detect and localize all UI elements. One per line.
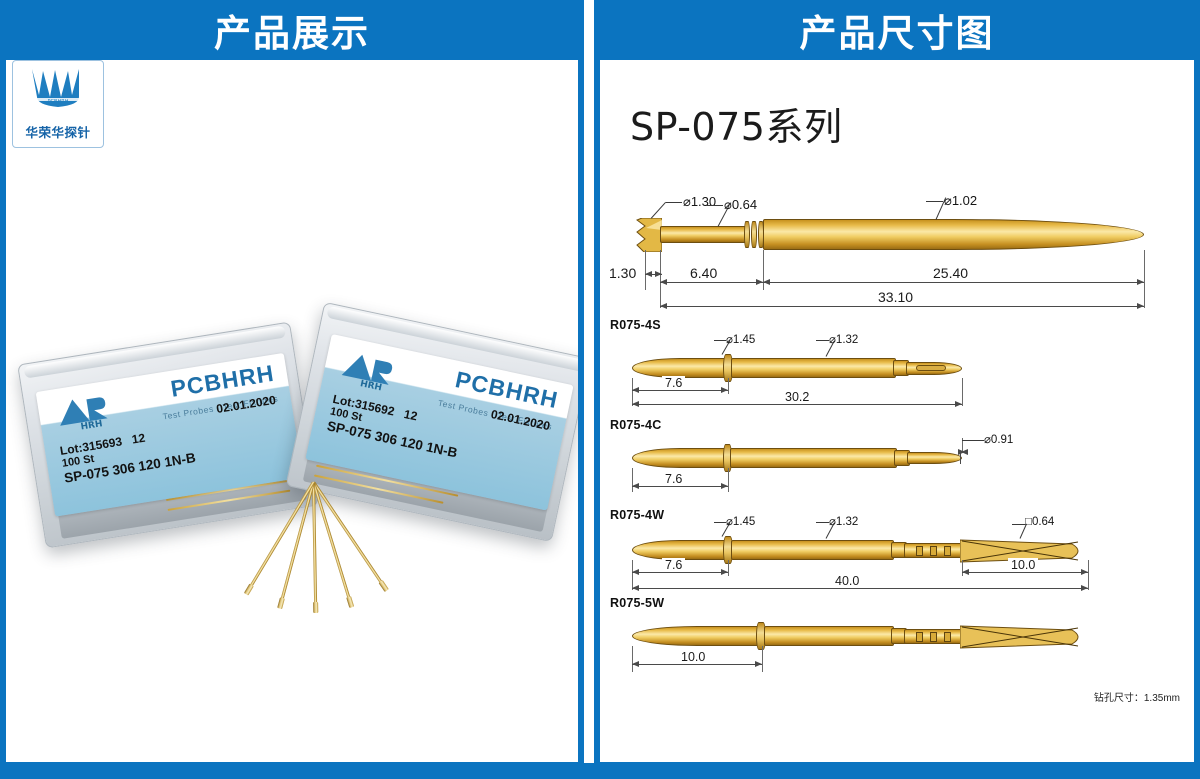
dimension-line-barrel: [763, 282, 1144, 283]
bottom-accent-bar: [0, 763, 1200, 779]
loose-probe: [249, 481, 314, 587]
callout-body-diameter-4w: ⌀1.32: [829, 514, 858, 528]
receptacle-body: [730, 448, 897, 468]
callout-barrel-diameter: ⌀1.02: [944, 193, 977, 209]
dimension-flange-4s: 7.6: [662, 376, 685, 390]
callout-body-diameter-4s: ⌀1.32: [829, 332, 858, 346]
callout-tip-diameter: ⌀1.30: [683, 194, 716, 210]
dimension-line-overall-4s: [632, 404, 962, 405]
receptacle-body: [731, 540, 894, 560]
callout-leader: [816, 340, 829, 341]
callout-tail-diameter-4c: ⌀0.91: [984, 432, 1013, 446]
extension-line: [645, 250, 646, 290]
barrel-segment: [763, 219, 1144, 250]
extension-line: [1144, 250, 1145, 308]
dimension-wrap-4w: 10.0: [1008, 558, 1038, 572]
drill-size-footnote: 钻孔尺寸：1.35mm: [1094, 689, 1180, 704]
receptacle-body: [632, 358, 728, 378]
product-photo: HRH PCBHRH Test Probes · Test Fixtures 0…: [6, 60, 578, 762]
extension-line: [728, 468, 729, 492]
callout-plunger-diameter: ⌀0.64: [724, 197, 757, 213]
crimp-ring: [744, 221, 750, 248]
callout-leader: [714, 340, 726, 341]
datasheet-page: 产品展示 PCBHRH 华荣华探针: [0, 0, 1200, 779]
receptacle-body: [764, 626, 894, 646]
callout-leader: [816, 522, 829, 523]
box-qty-code-right: 12: [403, 407, 419, 423]
dimension-drawing-panel: 产品尺寸图 SP-075系列: [594, 0, 1200, 770]
extension-line: [728, 378, 729, 394]
right-panel-body: SP-075系列 ⌀1.30: [600, 60, 1194, 762]
callout-flange-diameter-4s: ⌀1.45: [726, 332, 755, 346]
receptacle-body: [632, 540, 728, 560]
dimension-line-flange-4w: [632, 572, 728, 573]
callout-leader: [666, 202, 682, 203]
receptacle-body: [731, 358, 896, 378]
wrap-window: [930, 546, 937, 556]
callout-leader: [1012, 524, 1025, 525]
variant-name-4w: R075-4W: [610, 508, 664, 522]
hrh-logo-icon: HRH: [337, 345, 398, 393]
variant-name-4s: R075-4S: [610, 318, 661, 332]
dimension-line-body-4w: [632, 588, 1088, 589]
variant-drawing-4s: R075-4S ⌀1.45 ⌀1.32 7.6 30.2: [600, 318, 1194, 418]
variant-name-5w: R075-5W: [610, 596, 664, 610]
main-probe-drawing: ⌀1.30 ⌀0.64 ⌀1.02 1.30 6.40: [600, 60, 1194, 320]
right-panel-title: 产品尺寸图: [594, 0, 1200, 60]
dimension-line-overall: [660, 306, 1144, 307]
variant-drawing-4c: R075-4C ⌀0.91 7.6: [600, 418, 1194, 510]
crimp-tail: [907, 452, 962, 464]
variant-name-4c: R075-4C: [610, 418, 661, 432]
callout-leader: [926, 201, 943, 202]
receptacle-body: [632, 626, 762, 646]
socket-slot: [916, 365, 946, 371]
callout-wrap-post-size-4w: □0.64: [1025, 516, 1054, 528]
loose-probe: [312, 482, 351, 600]
left-panel-title: 产品展示: [0, 0, 584, 60]
dimension-body-4w: 40.0: [832, 574, 862, 588]
callout-leader: [707, 205, 723, 206]
wrap-window: [944, 546, 951, 556]
dimension-flange-5w: 10.0: [678, 650, 708, 664]
dimension-line-wrap-4w: [962, 572, 1088, 573]
callout-leader: [651, 202, 666, 219]
crimp-ring: [751, 221, 757, 248]
dimension-tip-length: 1.30: [606, 265, 639, 281]
loose-probe: [312, 482, 317, 604]
left-panel-body: PCBHRH 华荣华探针: [6, 60, 578, 762]
dimension-flange-4c: 7.6: [662, 472, 685, 486]
dimension-barrel-length: 25.40: [930, 265, 971, 281]
callout-leader: [714, 522, 726, 523]
extension-line: [762, 646, 763, 672]
box-qty-code-left: 12: [131, 431, 146, 447]
product-showcase-panel: 产品展示 PCBHRH 华荣华探针: [0, 0, 584, 770]
svg-text:HRH: HRH: [80, 420, 103, 433]
variant-drawing-5w: R075-5W 10.0: [600, 594, 1194, 694]
dimension-line-flange-4s: [632, 390, 728, 391]
callout-leader: [962, 440, 984, 441]
extension-line: [962, 378, 963, 406]
loose-probes-group: [234, 478, 394, 626]
crown-tip-icon: [636, 218, 662, 252]
panel-divider: [584, 0, 594, 770]
dimension-overall-4s: 30.2: [782, 390, 812, 404]
wrap-window: [930, 632, 937, 642]
dimension-line-flange-4c: [632, 486, 728, 487]
wire-wrap-post-icon: [960, 624, 1088, 650]
plunger-segment: [660, 226, 746, 243]
dimension-line-flange-5w: [632, 664, 762, 665]
dimension-flange-4w: 7.6: [662, 558, 685, 572]
dimension-tick: [960, 452, 965, 464]
extension-line: [632, 646, 633, 672]
dimension-plunger-length: 6.40: [687, 265, 720, 281]
callout-flange-diameter-4w: ⌀1.45: [726, 514, 755, 528]
dimension-line-plunger: [660, 282, 763, 283]
receptacle-body: [632, 448, 728, 468]
variant-drawing-4w: R075-4W ⌀1.45 ⌀1.32: [600, 502, 1194, 602]
extension-line: [1088, 560, 1089, 590]
wrap-window: [916, 632, 923, 642]
hrh-logo-icon: HRH: [51, 389, 110, 435]
extension-line: [728, 560, 729, 576]
dimension-overall-length: 33.10: [875, 289, 916, 305]
wrap-window: [916, 546, 923, 556]
dimension-line-tip: [645, 274, 662, 275]
loose-probe: [280, 482, 314, 601]
wrap-window: [944, 632, 951, 642]
loose-probe: [312, 481, 383, 584]
